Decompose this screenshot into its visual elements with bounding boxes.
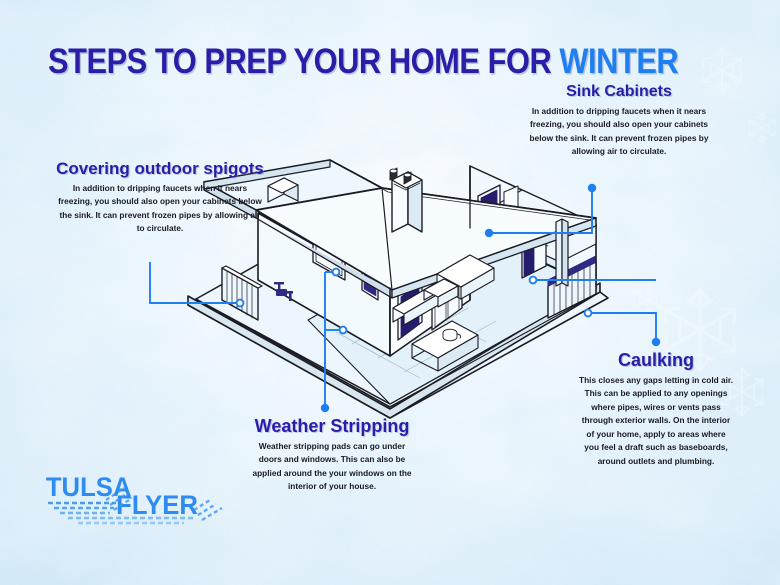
page-title: STEPS TO PREP YOUR HOME FOR WINTER	[48, 44, 678, 79]
callout-heading: Weather Stripping	[252, 417, 412, 436]
callout-covering-outdoor-spigots: Covering outdoor spigots In addition to …	[56, 160, 264, 236]
connector-sink	[485, 184, 596, 237]
connector-endpoint-filled	[485, 229, 493, 237]
connector-caulking	[585, 310, 661, 347]
callout-body: In addition to dripping faucets when it …	[528, 105, 710, 159]
connector-weather	[321, 269, 347, 413]
callout-heading: Caulking	[578, 351, 734, 370]
connector-endpoint-hollow	[333, 269, 340, 276]
connector-caulking-door	[530, 277, 656, 284]
callout-sink-cabinets: Sink Cabinets In addition to dripping fa…	[528, 84, 710, 159]
connector-spigots	[150, 262, 243, 306]
callout-body: In addition to dripping faucets when it …	[56, 182, 264, 236]
connector-origin-dot	[321, 404, 329, 412]
callout-body: This closes any gaps letting in cold air…	[578, 374, 734, 468]
callout-body: Weather stripping pads can go under door…	[252, 440, 412, 494]
connector-endpoint-hollow	[585, 310, 592, 317]
callout-caulking: Caulking This closes any gaps letting in…	[578, 351, 734, 468]
title-main: STEPS TO PREP YOUR HOME FOR	[48, 42, 559, 81]
title-accent: WINTER	[559, 42, 678, 81]
logo-tulsa-flyer: TULSA FLYER	[44, 470, 234, 528]
callout-heading: Covering outdoor spigots	[56, 160, 264, 178]
connector-endpoint-hollow	[530, 277, 537, 284]
connector-endpoint-hollow	[237, 300, 244, 307]
connector-origin-dot	[652, 338, 660, 346]
callout-weather-stripping: Weather Stripping Weather stripping pads…	[252, 417, 412, 494]
connector-endpoint-hollow	[340, 327, 347, 334]
callout-heading: Sink Cabinets	[528, 84, 710, 101]
connector-origin-dot	[588, 184, 596, 192]
